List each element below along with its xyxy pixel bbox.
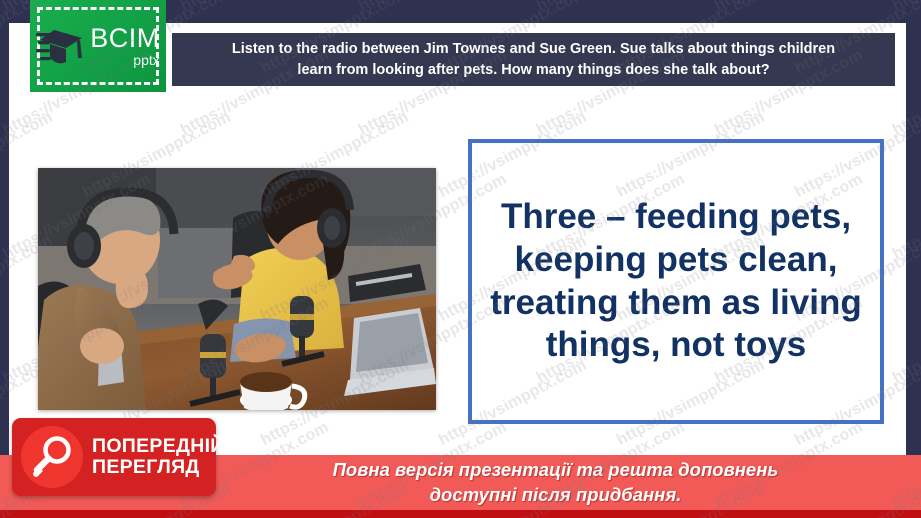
logo-subtitle: pptx	[90, 53, 160, 67]
task-header-banner: Listen to the radio between Jim Townes a…	[172, 33, 895, 86]
task-header-text: Listen to the radio between Jim Townes a…	[232, 39, 835, 80]
answer-box: Three – feeding pets, keeping pets clean…	[468, 139, 884, 424]
frame-left-bar	[0, 0, 9, 518]
task-header-line1: Listen to the radio between Jim Townes a…	[232, 41, 835, 57]
graduation-cap-icon	[36, 24, 86, 68]
task-header-line2: learn from looking after pets. How many …	[297, 62, 769, 78]
logo-title: BCIM	[90, 25, 160, 52]
podcast-photo	[38, 168, 436, 410]
frame-right-bar	[906, 0, 921, 518]
preview-badge-line2: ПЕРЕГЛЯД	[92, 457, 225, 478]
answer-text: Three – feeding pets, keeping pets clean…	[482, 196, 870, 367]
preview-badge-line1: ПОПЕРЕДНІЙ	[92, 436, 225, 457]
purchase-notice-line2: доступні після придбання.	[333, 483, 779, 507]
magnifier-icon	[21, 426, 83, 488]
purchase-notice-line1: Повна версія презентації та решта доповн…	[333, 458, 779, 482]
purchase-notice-text: Повна версія презентації та решта доповн…	[143, 458, 779, 506]
bcim-logo: BCIM pptx	[30, 0, 166, 92]
preview-badge-label: ПОПЕРЕДНІЙ ПЕРЕГЛЯД	[92, 436, 225, 478]
slide-canvas: Three – feeding pets, keeping pets clean…	[0, 0, 921, 518]
frame-bottom-strip	[0, 510, 921, 518]
preview-badge: ПОПЕРЕДНІЙ ПЕРЕГЛЯД	[12, 418, 216, 496]
